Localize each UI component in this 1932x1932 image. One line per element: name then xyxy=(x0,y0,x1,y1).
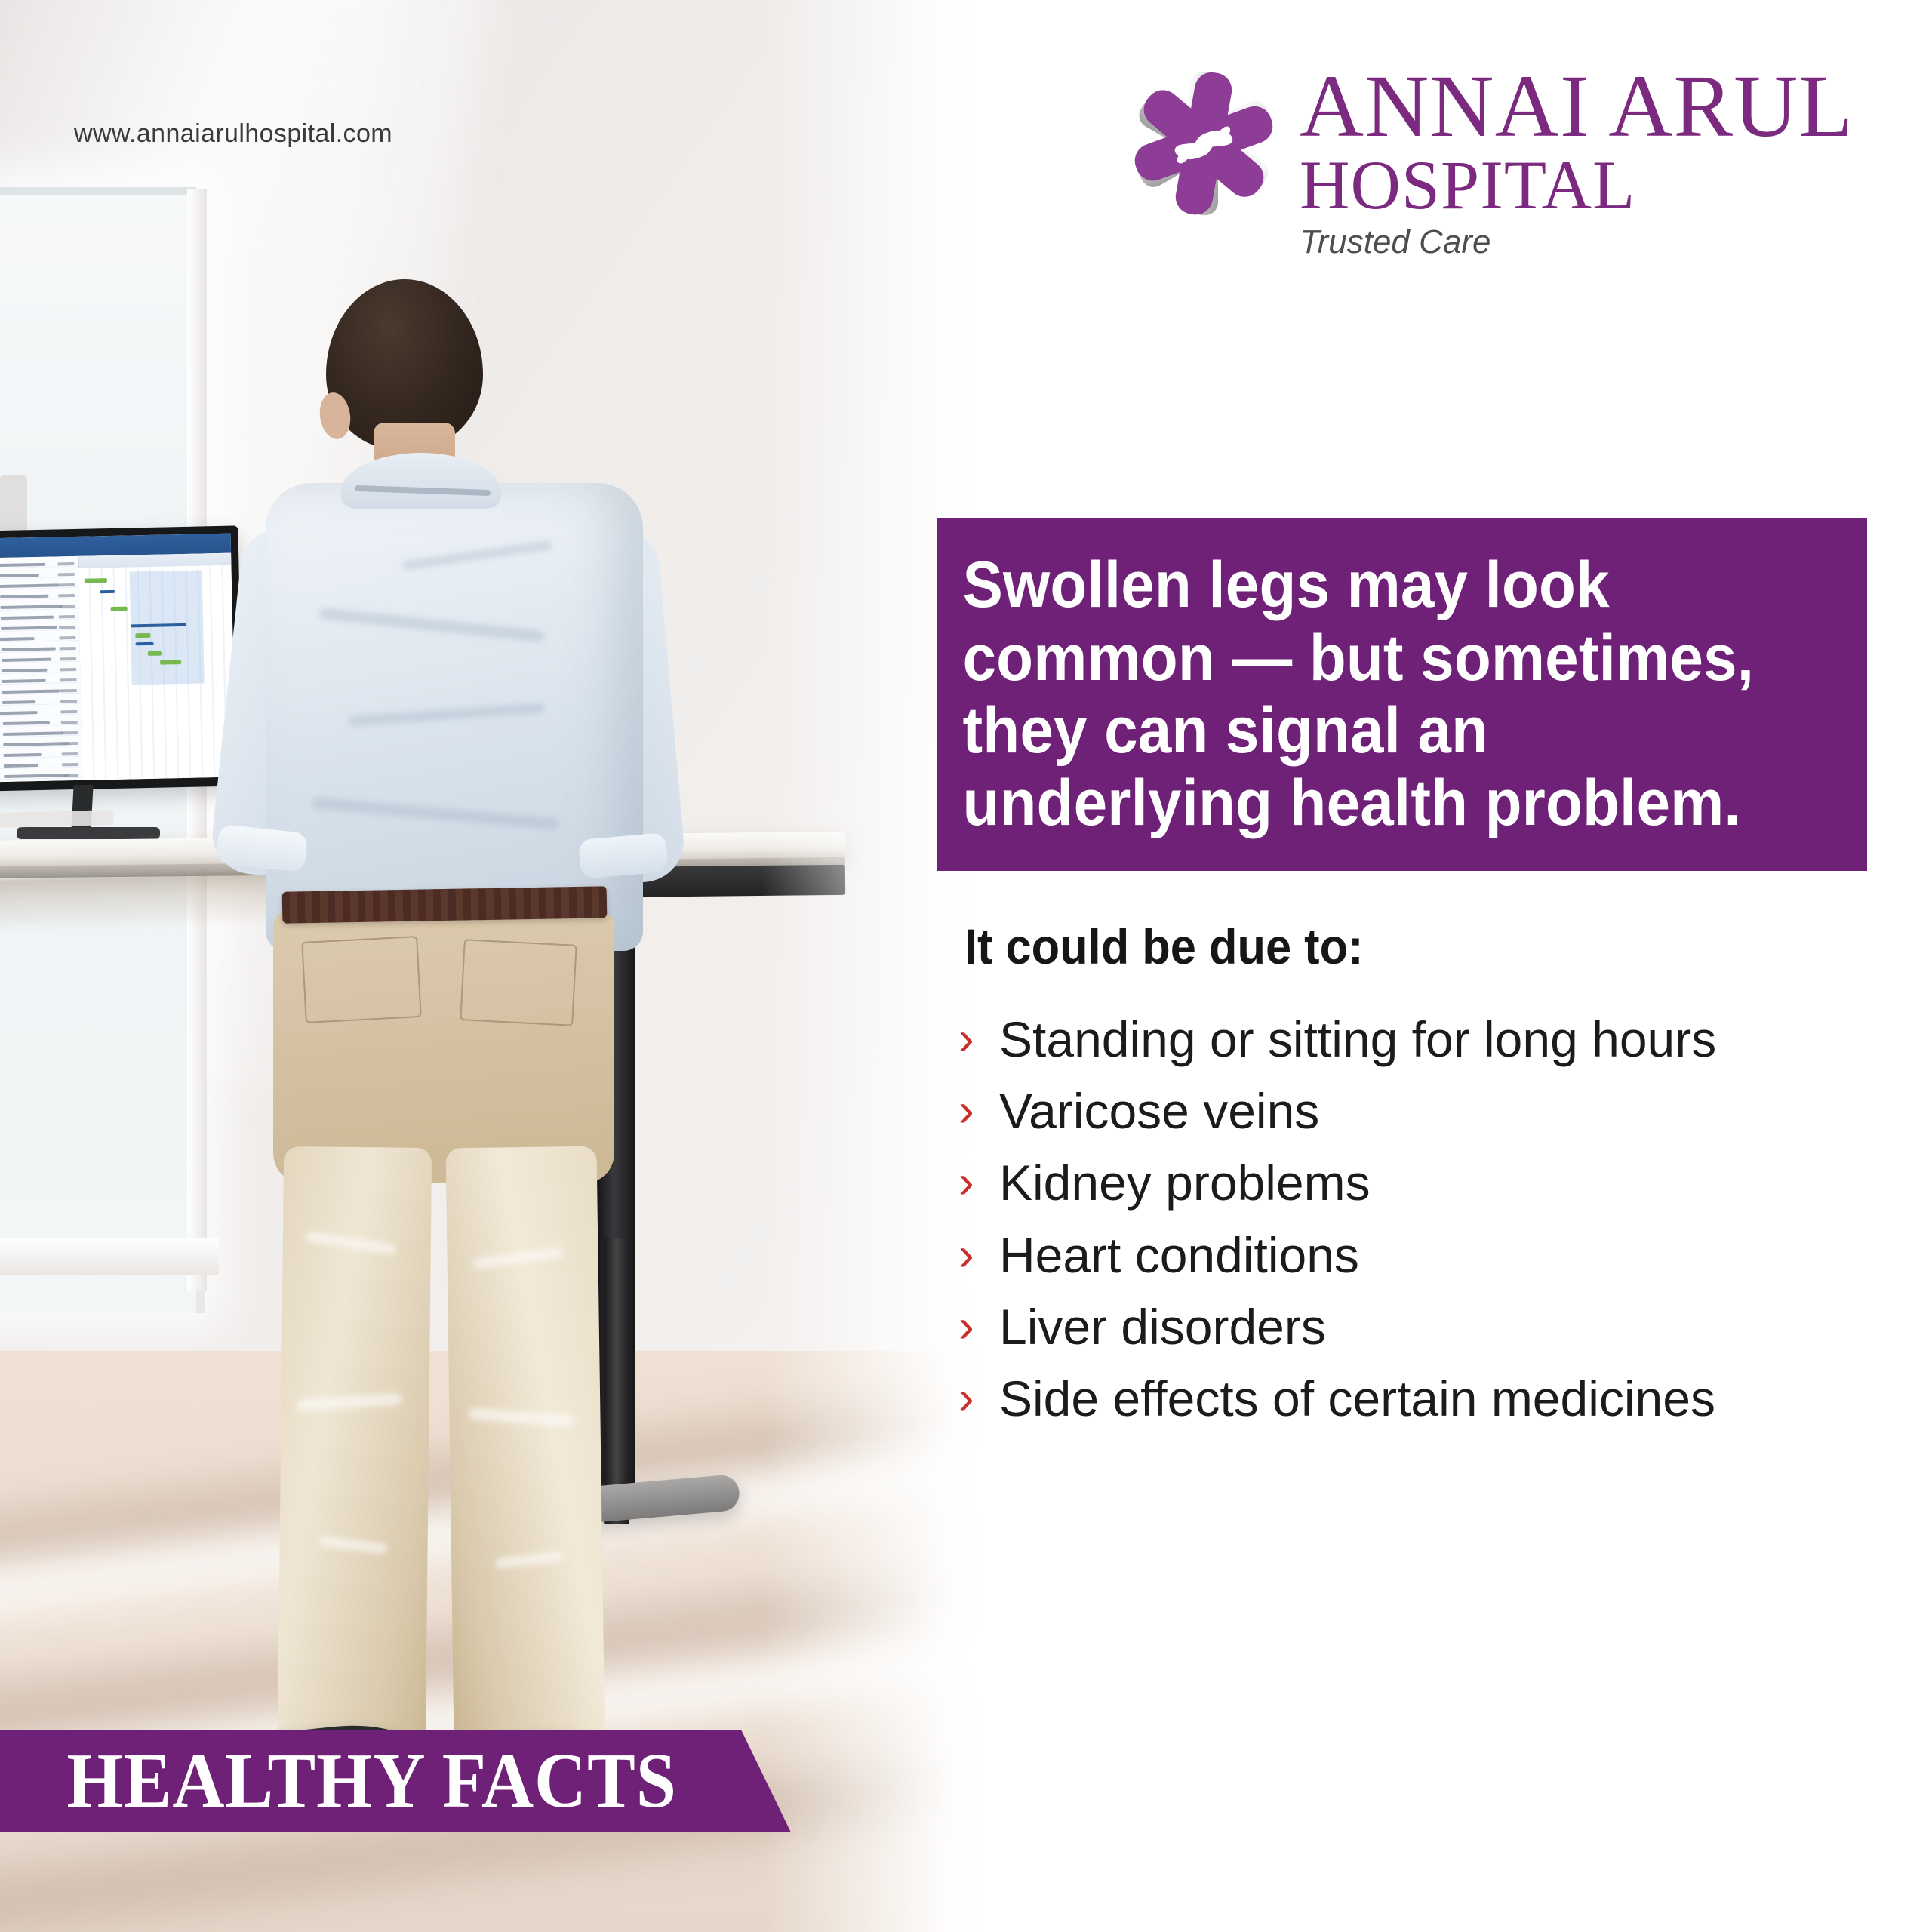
person-right-leg xyxy=(445,1146,605,1745)
shirt-cuff-right xyxy=(578,832,669,879)
window-sill xyxy=(0,1238,219,1275)
person-belt xyxy=(282,886,608,923)
infographic-poster: www.annaiarulhospital.com xyxy=(0,0,1932,1932)
logo-tagline: Trusted Care xyxy=(1300,226,1854,259)
window-mullion xyxy=(0,187,196,195)
healthy-facts-label: HEALTHY FACTS xyxy=(0,1742,677,1820)
list-item-label: Standing or sitting for long hours xyxy=(999,1011,1716,1068)
desk-column-inner xyxy=(604,1238,629,1524)
list-item: › Standing or sitting for long hours xyxy=(958,1011,1902,1068)
logo-line-1: ANNAI ARUL xyxy=(1300,65,1854,149)
list-item-label: Kidney problems xyxy=(999,1155,1371,1211)
person-shirt xyxy=(266,483,643,951)
list-item: › Side effects of certain medicines xyxy=(958,1371,1902,1427)
list-item: › Liver disorders xyxy=(958,1299,1902,1355)
chevron-right-icon: › xyxy=(958,1083,999,1134)
person-trousers-hips xyxy=(273,912,614,1183)
headline-text: Swollen legs may look common — but somet… xyxy=(937,549,1802,839)
person-left-leg xyxy=(278,1146,432,1744)
chevron-right-icon: › xyxy=(958,1011,999,1063)
monitor-screen xyxy=(0,534,235,783)
list-item-label: Side effects of certain medicines xyxy=(999,1371,1715,1427)
computer-monitor xyxy=(0,525,244,791)
star-of-life-helping-hands-icon xyxy=(1132,69,1275,220)
logo-line-2: HOSPITAL xyxy=(1300,152,1854,218)
headline-banner: Swollen legs may look common — but somet… xyxy=(937,518,1867,871)
hero-photo xyxy=(0,0,989,1932)
list-item: › Kidney problems xyxy=(958,1155,1902,1211)
gantt-highlight-band xyxy=(130,570,205,685)
causes-list: › Standing or sitting for long hours › V… xyxy=(958,1011,1902,1442)
list-item-label: Liver disorders xyxy=(999,1299,1326,1355)
list-item: › Heart conditions xyxy=(958,1227,1902,1284)
list-item-label: Varicose veins xyxy=(999,1083,1319,1140)
chevron-right-icon: › xyxy=(958,1299,999,1350)
healthy-facts-banner: HEALTHY FACTS xyxy=(0,1730,800,1832)
keyboard xyxy=(0,810,113,828)
list-item: › Varicose veins xyxy=(958,1083,1902,1140)
list-item-label: Heart conditions xyxy=(999,1227,1359,1284)
chevron-right-icon: › xyxy=(958,1227,999,1278)
logo-wordmark: ANNAI ARUL HOSPITAL Trusted Care xyxy=(1300,65,1854,259)
website-url[interactable]: www.annaiarulhospital.com xyxy=(74,119,392,149)
monitor-base xyxy=(17,827,160,839)
hospital-logo[interactable]: ANNAI ARUL HOSPITAL Trusted Care xyxy=(1132,69,1894,243)
chevron-right-icon: › xyxy=(958,1155,999,1206)
gantt-task-list xyxy=(0,556,83,783)
subheading: It could be due to: xyxy=(964,918,1364,975)
chevron-right-icon: › xyxy=(958,1371,999,1422)
